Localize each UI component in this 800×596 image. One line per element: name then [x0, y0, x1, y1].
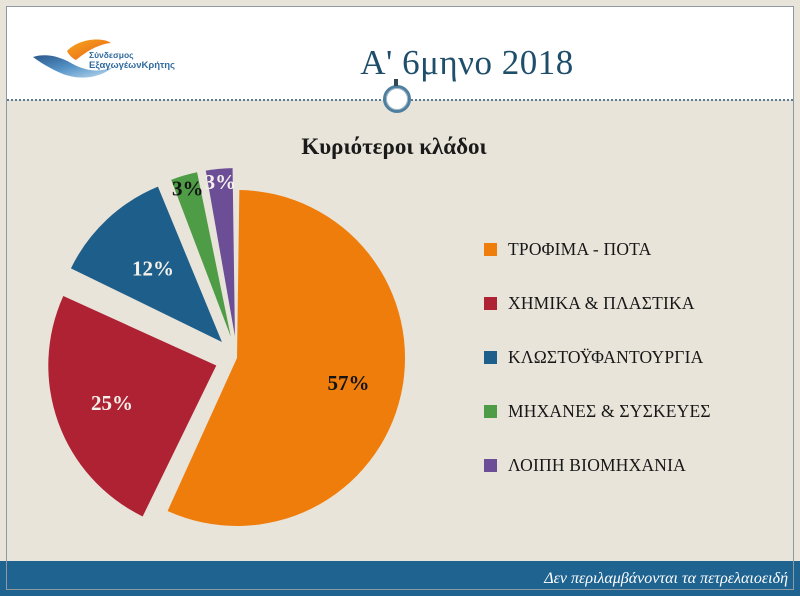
- slide-footer: Δεν περιλαμβάνονται τα πετρελαιοειδή: [0, 561, 800, 596]
- legend-item-label: ΛΟΙΠΗ ΒΙΟΜΗΧΑΝΙΑ: [508, 455, 686, 476]
- legend-item-label: ΜΗΧΑΝΕΣ & ΣΥΣΚΕΥΕΣ: [508, 401, 711, 422]
- chart-title: Κυριότεροι κλάδοι: [0, 134, 800, 160]
- header-circle-inner-ring: [386, 88, 408, 110]
- pie-chart: 57%25%12%3%3%: [0, 160, 470, 540]
- organization-logo: Σύνδεσμος ΕξαγωγέωνΚρήτης: [29, 33, 189, 85]
- pie-data-label: 25%: [91, 391, 133, 415]
- svg-text:ΕξαγωγέωνΚρήτης: ΕξαγωγέωνΚρήτης: [89, 60, 175, 71]
- legend-item-label: ΧΗΜΙΚΑ & ΠΛΑΣΤΙΚΑ: [508, 293, 695, 314]
- slide-title: Α' 6μηνο 2018: [227, 43, 707, 83]
- svg-text:Σύνδεσμος: Σύνδεσμος: [89, 50, 134, 60]
- legend-item[interactable]: ΛΟΙΠΗ ΒΙΟΜΗΧΑΝΙΑ: [484, 438, 784, 492]
- legend-item-label: ΤΡΟΦΙΜΑ - ΠΟΤΑ: [508, 239, 652, 260]
- chart-title-text: Κυριότεροι κλάδοι: [301, 134, 486, 160]
- legend-item[interactable]: ΜΗΧΑΝΕΣ & ΣΥΣΚΕΥΕΣ: [484, 384, 784, 438]
- pie-data-label: 3%: [205, 170, 237, 194]
- pie-slice-group: [48, 168, 405, 526]
- header-circle-marker: [394, 79, 398, 86]
- legend-color-swatch: [484, 243, 497, 256]
- legend-color-swatch: [484, 297, 497, 310]
- legend-item[interactable]: ΧΗΜΙΚΑ & ΠΛΑΣΤΙΚΑ: [484, 276, 784, 330]
- legend-color-swatch: [484, 351, 497, 364]
- legend-item-label: ΚΛΩΣΤΟΫΦΑΝΤΟΥΡΓΙΑ: [508, 347, 703, 368]
- legend-item[interactable]: ΚΛΩΣΤΟΫΦΑΝΤΟΥΡΓΙΑ: [484, 330, 784, 384]
- presentation-slide: Σύνδεσμος ΕξαγωγέωνΚρήτης Α' 6μηνο 2018 …: [0, 0, 800, 596]
- pie-data-label: 3%: [172, 176, 204, 200]
- pie-data-label: 57%: [327, 371, 369, 395]
- pie-data-label: 12%: [132, 256, 174, 280]
- legend-color-swatch: [484, 405, 497, 418]
- legend-color-swatch: [484, 459, 497, 472]
- chart-legend: ΤΡΟΦΙΜΑ - ΠΟΤΑΧΗΜΙΚΑ & ΠΛΑΣΤΙΚΑΚΛΩΣΤΟΫΦΑ…: [484, 222, 784, 492]
- footer-note: Δεν περιλαμβάνονται τα πετρελαιοειδή: [544, 570, 800, 588]
- legend-item[interactable]: ΤΡΟΦΙΜΑ - ΠΟΤΑ: [484, 222, 784, 276]
